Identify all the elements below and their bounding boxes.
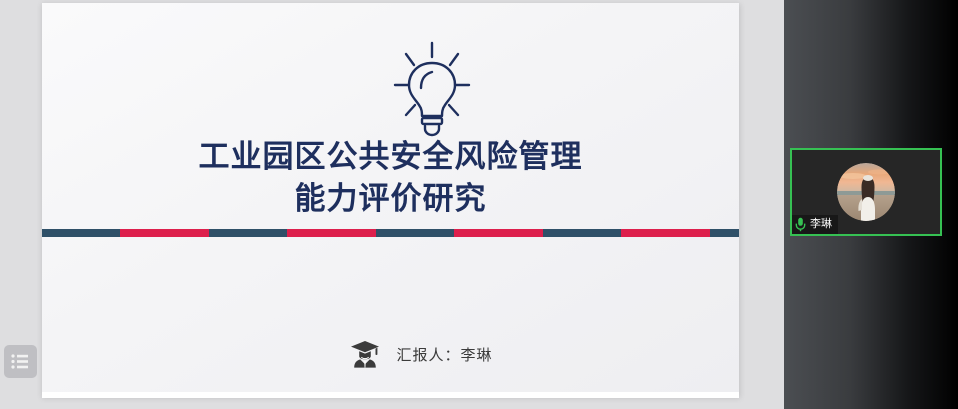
avatar [837, 163, 895, 221]
divider-segment [120, 229, 209, 237]
slide-title: 工业园区公共安全风险管理 能力评价研究 [42, 136, 739, 220]
presenter-line: 汇报人：李琳 [42, 339, 739, 369]
slide-stage: 工业园区公共安全风险管理 能力评价研究 [0, 0, 784, 409]
presenter-text: 汇报人：李琳 [396, 344, 492, 365]
participant-name: 李琳 [810, 218, 832, 231]
divider-segment [543, 229, 621, 237]
divider-segment [287, 229, 376, 237]
divider-segment [710, 229, 739, 237]
divider-segment [454, 229, 543, 237]
divider-segment [209, 229, 287, 237]
participant-video-tile[interactable]: 李琳 [790, 148, 942, 236]
lightbulb-icon [389, 41, 475, 137]
presentation-meeting-window: 工业园区公共安全风险管理 能力评价研究 [0, 0, 958, 409]
thumbnail-panel-toggle-button[interactable] [4, 345, 37, 378]
video-participant-rail: 李琳 [784, 0, 958, 409]
microphone-icon [795, 217, 806, 232]
slide-bottom-edge [42, 392, 739, 398]
divider-segment [376, 229, 454, 237]
divider-bar [42, 229, 739, 237]
graduate-person-icon [350, 339, 380, 369]
participant-name-badge: 李琳 [792, 215, 838, 234]
divider-segment [42, 229, 120, 237]
slide-canvas[interactable]: 工业园区公共安全风险管理 能力评价研究 [42, 3, 739, 395]
list-panel-icon [11, 354, 30, 369]
divider-segment [621, 229, 710, 237]
